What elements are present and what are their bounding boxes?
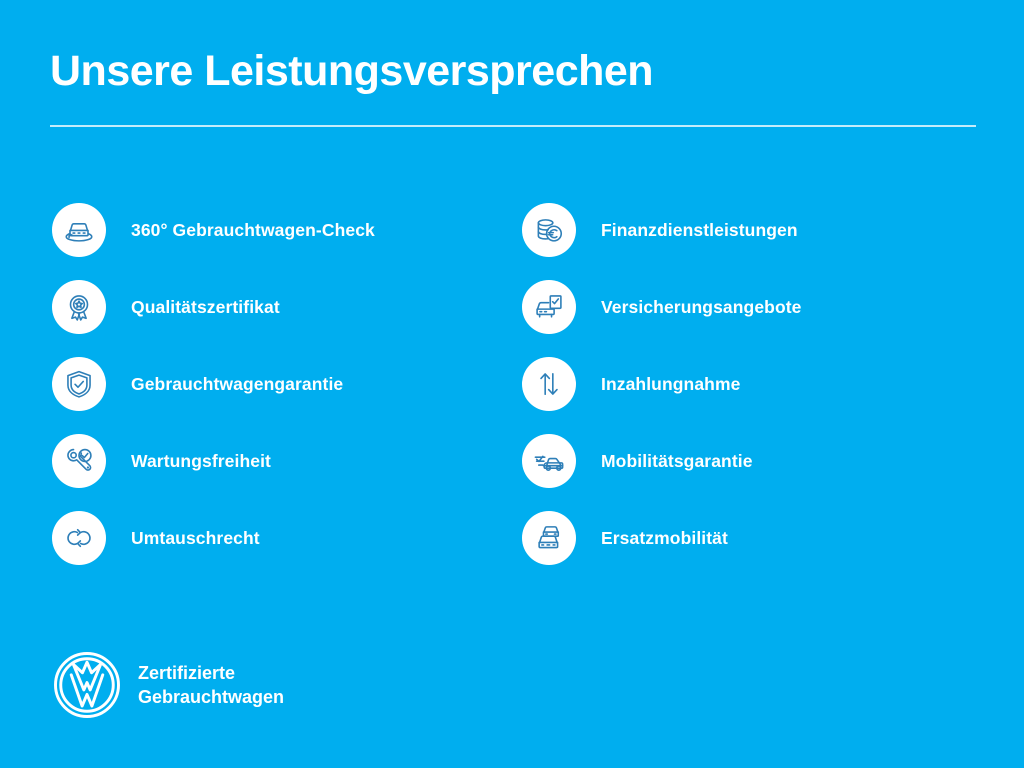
brand-text: Zertifizierte Gebrauchtwagen — [138, 661, 284, 710]
car-document-check-icon — [522, 280, 576, 334]
arrows-up-down-icon — [522, 357, 576, 411]
title-divider — [50, 125, 976, 127]
list-item-label: Ersatzmobilität — [601, 528, 728, 549]
list-item[interactable]: Finanzdienstleistungen — [522, 203, 992, 257]
list-item-label: Gebrauchtwagengarantie — [131, 374, 343, 395]
two-cars-icon — [522, 511, 576, 565]
list-item-label: Versicherungsangebote — [601, 297, 802, 318]
volkswagen-logo — [52, 650, 122, 720]
wrench-check-icon — [52, 434, 106, 488]
list-item[interactable]: Ersatzmobilität — [522, 511, 992, 565]
list-item[interactable]: Gebrauchtwagengarantie — [52, 357, 522, 411]
list-item[interactable]: Mobilitätsgarantie — [522, 434, 992, 488]
list-item-label: Inzahlungnahme — [601, 374, 740, 395]
slide-root: Unsere Leistungsversprechen — [0, 0, 1024, 768]
car-360-check-icon — [52, 203, 106, 257]
list-item-label: Mobilitätsgarantie — [601, 451, 753, 472]
list-item[interactable]: 360° Gebrauchtwagen-Check — [52, 203, 522, 257]
list-item-label: Wartungsfreiheit — [131, 451, 271, 472]
car-motion-icon — [522, 434, 576, 488]
arrows-up-down-row[interactable]: Inzahlungnahme — [522, 357, 992, 411]
list-item-label: Umtauschrecht — [131, 528, 260, 549]
list-item-label: Qualitätszertifikat — [131, 297, 280, 318]
brand-text-line1: Zertifizierte — [138, 663, 235, 683]
list-item-label: 360° Gebrauchtwagen-Check — [131, 220, 375, 241]
brand-lockup: Zertifizierte Gebrauchtwagen — [52, 650, 284, 720]
list-item[interactable]: Umtauschrecht — [52, 511, 522, 565]
list-item[interactable]: Qualitätszertifikat — [52, 280, 522, 334]
list-item[interactable]: Versicherungsangebote — [522, 280, 992, 334]
list-item[interactable]: Wartungsfreiheit — [52, 434, 522, 488]
exchange-arrows-icon — [52, 511, 106, 565]
list-item-label: Finanzdienstleistungen — [601, 220, 798, 241]
shield-check-icon — [52, 357, 106, 411]
promise-column-right: Finanzdienstleistungen Versicheru — [522, 203, 992, 588]
coins-euro-icon — [522, 203, 576, 257]
brand-text-line2: Gebrauchtwagen — [138, 687, 284, 707]
promise-grid: 360° Gebrauchtwagen-Check Qualitätszerti… — [0, 203, 1024, 588]
page-title: Unsere Leistungsversprechen — [50, 48, 976, 95]
promise-column-left: 360° Gebrauchtwagen-Check Qualitätszerti… — [52, 203, 522, 588]
header: Unsere Leistungsversprechen — [50, 48, 976, 127]
award-rosette-icon — [52, 280, 106, 334]
